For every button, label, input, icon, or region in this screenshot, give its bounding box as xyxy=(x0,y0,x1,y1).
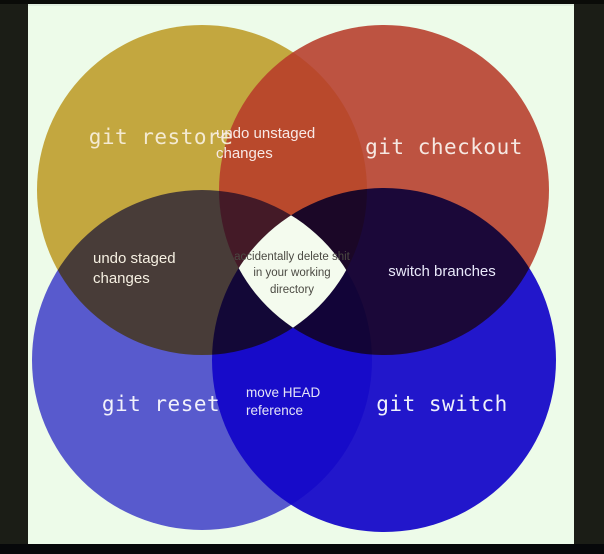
venn-label-center-intersection: accidentally delete shit in your working… xyxy=(230,249,354,298)
venn-label-undo-unstaged-changes: undo unstaged changes xyxy=(216,124,366,164)
venn-label-git-reset: git reset xyxy=(56,391,266,419)
screen: git restore git checkout git reset git s… xyxy=(0,0,604,554)
slide-canvas: git restore git checkout git reset git s… xyxy=(28,6,574,544)
letterbox-bar-bottom xyxy=(0,544,604,554)
venn-label-undo-staged-changes: undo staged changes xyxy=(93,249,243,289)
venn-label-move-head-reference: move HEAD reference xyxy=(246,384,396,420)
letterbox-bar-left xyxy=(0,0,28,544)
venn-label-git-checkout: git checkout xyxy=(336,134,552,162)
letterbox-bar-right xyxy=(574,0,604,544)
venn-label-switch-branches: switch branches xyxy=(354,262,530,282)
